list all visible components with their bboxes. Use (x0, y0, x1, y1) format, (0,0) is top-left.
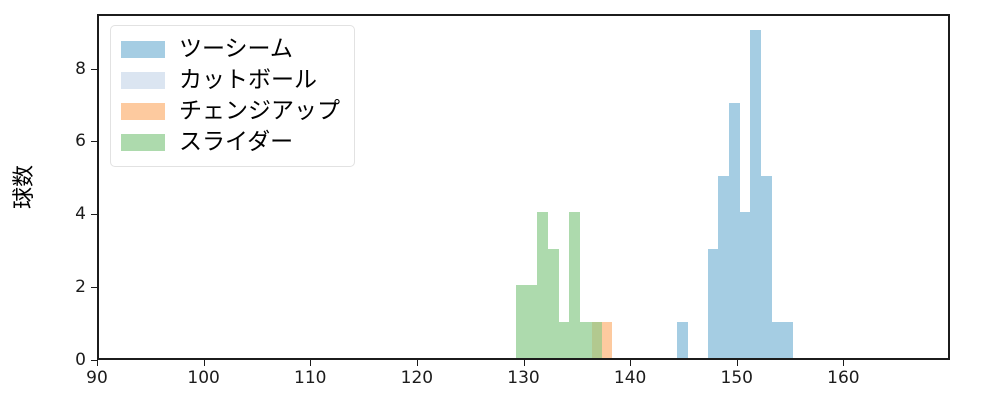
histogram-bar (750, 30, 761, 358)
legend-item-label: スライダー (179, 131, 293, 154)
x-axis-tick (630, 360, 631, 366)
x-axis-tick (524, 360, 525, 366)
x-axis-tick-label: 120 (401, 368, 433, 388)
y-axis-label: 球数 (6, 165, 38, 209)
x-axis-tick-label: 160 (827, 368, 859, 388)
histogram-bar (718, 176, 729, 358)
histogram-bar (569, 212, 580, 358)
x-axis-tick (97, 360, 98, 366)
histogram-bar (729, 103, 740, 358)
histogram-bar-overlap (592, 322, 603, 358)
legend-swatch-icon (121, 41, 165, 58)
histogram-bar (537, 212, 548, 358)
x-axis-tick-label: 110 (294, 368, 326, 388)
legend-swatch-icon (121, 72, 165, 89)
x-axis-tick-label: 90 (86, 368, 108, 388)
histogram-bar (677, 322, 688, 358)
legend-item-label: カットボール (179, 69, 317, 92)
legend-swatch-icon (121, 134, 165, 151)
histogram-bar (761, 176, 772, 358)
legend-item[interactable]: カットボール (121, 65, 340, 96)
x-axis-tick (310, 360, 311, 366)
histogram-bar (559, 322, 570, 358)
legend-item-label: ツーシーム (179, 38, 293, 61)
histogram-figure: 球数 02468 90100110120130140150160 ツーシームカッ… (0, 0, 1000, 400)
x-axis-tick-label: 150 (721, 368, 753, 388)
histogram-bar (516, 285, 537, 358)
y-axis-tick-label: 0 (75, 350, 86, 370)
histogram-bar (772, 322, 793, 358)
y-axis-tick-label: 4 (75, 204, 86, 224)
legend: ツーシームカットボールチェンジアップスライダー (110, 25, 355, 167)
y-axis-tick-label: 2 (75, 277, 86, 297)
y-axis-tick-label: 8 (75, 59, 86, 79)
x-axis-tick (204, 360, 205, 366)
legend-swatch-icon (121, 103, 165, 120)
x-axis-tick (843, 360, 844, 366)
x-axis-tick-label: 100 (187, 368, 219, 388)
x-axis-tick-label: 140 (614, 368, 646, 388)
y-axis-tick-label: 6 (75, 131, 86, 151)
x-axis-tick (417, 360, 418, 366)
histogram-bar (740, 212, 751, 358)
x-axis-tick (737, 360, 738, 366)
legend-item[interactable]: チェンジアップ (121, 96, 340, 127)
histogram-bar (708, 249, 719, 358)
x-axis-tick-label: 130 (507, 368, 539, 388)
histogram-bar (548, 249, 559, 358)
legend-item[interactable]: スライダー (121, 127, 340, 158)
legend-item-label: チェンジアップ (179, 100, 340, 123)
legend-item[interactable]: ツーシーム (121, 34, 340, 65)
